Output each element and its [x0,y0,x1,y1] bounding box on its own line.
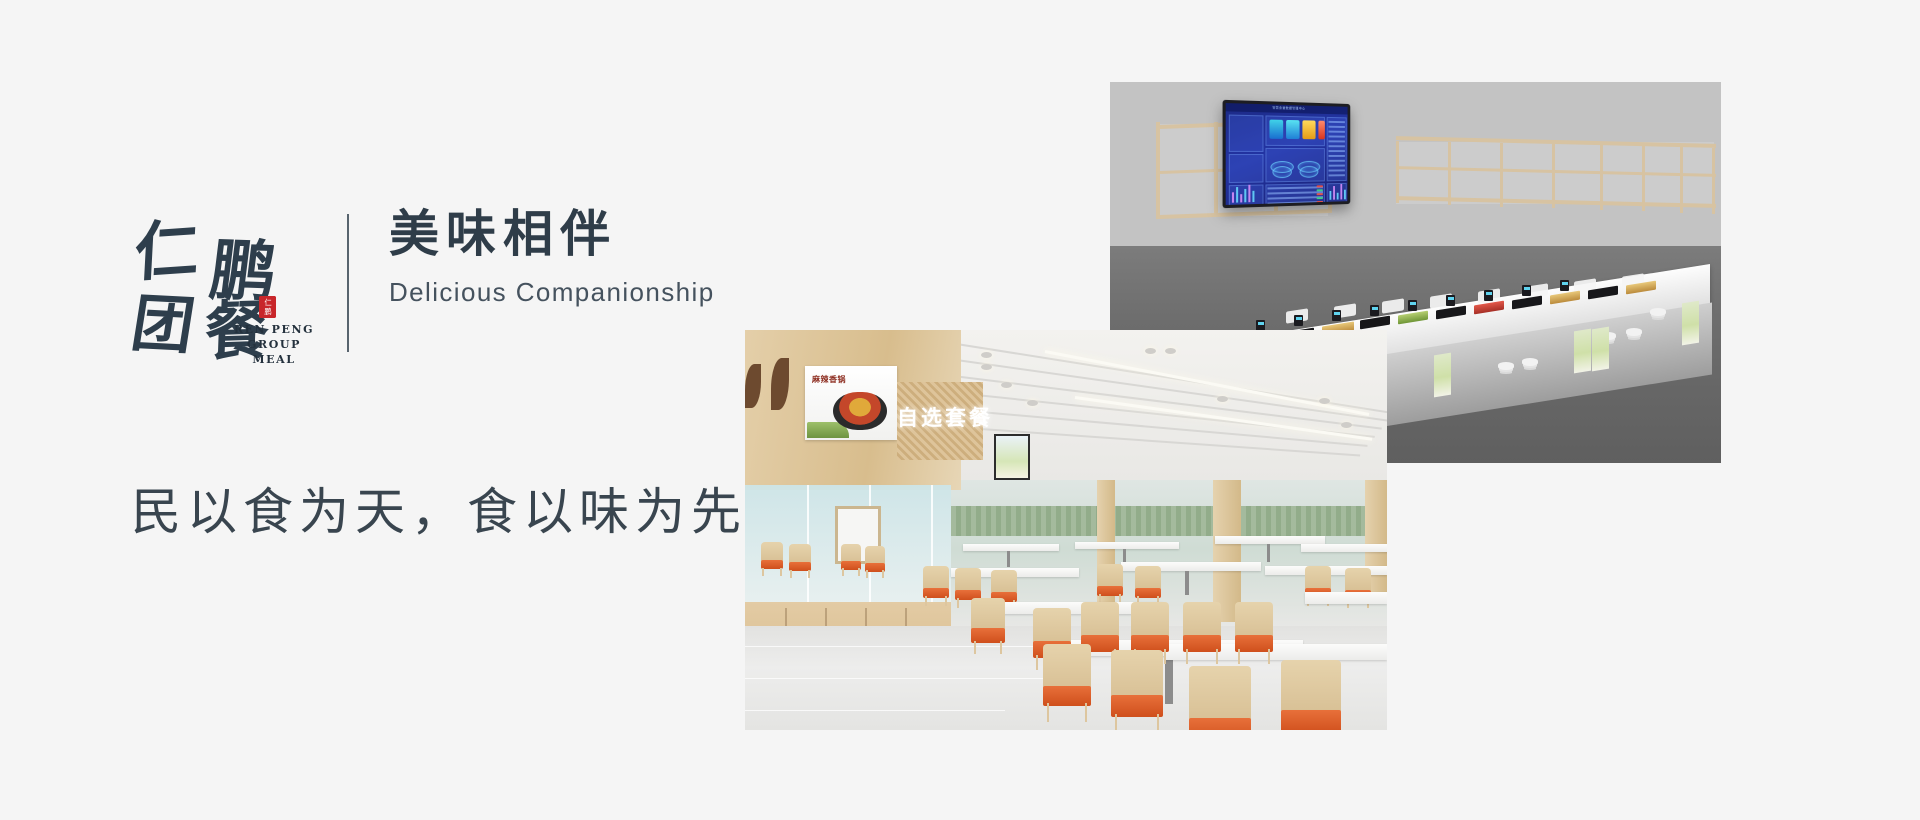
dashboard-legend-chip [1317,201,1323,203]
frame-post [1448,142,1451,205]
downlight [1145,348,1156,354]
tagline-block: 美味相伴 Delicious Companionship [389,204,715,308]
dashboard-list-row [1329,131,1345,133]
poster-title: 麻辣香锅 [812,374,846,385]
dashboard-bar [1240,194,1242,202]
downlight [1341,422,1352,428]
dashboard-kpi-dishes [1286,120,1299,139]
floor-seam [745,678,1045,679]
dashboard-bar [1329,191,1331,200]
structural-column [1213,480,1241,622]
dining-chair [1235,602,1273,664]
dashboard-list-row [1329,155,1345,157]
decor-panel [1592,327,1609,372]
dashboard-bar [1252,191,1254,202]
dining-chair [1111,650,1163,730]
dining-chair [865,546,885,578]
dashboard-list-row [1329,165,1345,167]
downlight [1001,382,1012,388]
brand-row: 仁 鹏 团 餐 仁 鹏 REN PENG GROUP MEAL 美味相伴 Del… [133,196,715,361]
dashboard-list-row [1329,150,1345,152]
red-seal-stamp-icon: 仁 鹏 [259,296,276,318]
ren-peng-group-meal-logo: 仁 鹏 团 餐 仁 鹏 REN PENG GROUP MEAL [133,196,313,361]
ceiling-strip [981,428,1360,457]
dashboard-bar [1244,189,1246,202]
cafeteria-interior-photo: 麻辣香锅 自选套餐 [745,330,1387,730]
sneeze-guard [1382,298,1404,313]
dining-table [1301,544,1387,552]
poster-dish-bowl [833,392,887,430]
logo-english-line-3: MEAL [229,352,319,367]
downlight [1165,348,1176,354]
dashboard-bar [1333,186,1335,200]
dining-chair [761,542,783,576]
table-leg [1267,544,1270,562]
green-hedge [951,506,1387,536]
seal-line-2: 鹏 [264,307,271,315]
dashboard-list-row [1329,126,1345,128]
bowl-stack [1650,308,1666,316]
frame-post [1156,122,1160,218]
price-tag-display[interactable] [1370,305,1379,316]
menu-poster: 麻辣香锅 [805,366,897,440]
dashboard-panel-nutrition [1229,154,1264,183]
frame-post [1500,143,1503,207]
menu-tv-screen[interactable] [994,434,1030,480]
dashboard-list-row [1329,135,1345,137]
table-leg [1185,571,1189,595]
bowl-stack [1522,358,1538,366]
frame-post [1712,148,1715,214]
dining-table [1075,542,1179,549]
price-tag-display[interactable] [1408,300,1417,311]
dining-chair [971,598,1005,654]
dashboard-list-row [1329,160,1345,162]
dashboard-screen: 智慧食堂数据管理中心 [1226,103,1348,205]
downlight [1217,396,1228,402]
vertical-divider [347,214,349,352]
frame-post [1552,144,1555,208]
logo-english-name: REN PENG GROUP MEAL [229,322,319,367]
price-tag-display[interactable] [1332,310,1341,321]
floor-seam [745,710,1005,711]
downlight [981,364,992,370]
dining-chair [1281,660,1341,730]
dashboard-list-row [1329,169,1345,171]
decor-panel [1682,301,1699,346]
dashboard-kpi-stock [1318,121,1324,140]
price-tag-display[interactable] [1560,280,1569,291]
page-title: 民以食为天，食以味为先 [131,472,747,544]
downlight [1027,400,1038,406]
hero-banner: 仁 鹏 团 餐 仁 鹏 REN PENG GROUP MEAL 美味相伴 Del… [0,0,1920,820]
dining-chair [1189,666,1251,730]
dashboard-list-row [1329,121,1345,123]
dashboard-legend-chip [1317,197,1323,199]
price-tag-display[interactable] [1484,290,1493,301]
dining-table [1305,592,1387,604]
price-tag-display[interactable] [1522,285,1531,296]
dining-chair [1043,644,1091,722]
downlight [1319,398,1330,404]
frame-post [1642,146,1645,211]
price-tag-display[interactable] [1446,295,1455,306]
dining-chair [841,544,861,576]
dashboard-bar [1337,193,1339,200]
dashboard-bar [1344,190,1346,200]
decor-panel [1434,353,1451,398]
dashboard-bar [1340,184,1342,200]
dashboard-kpi-nutrition [1302,120,1315,139]
frame-post [1600,145,1603,210]
dashboard-legend-chip [1317,185,1323,187]
downlight [981,352,992,358]
dining-chair [1097,564,1123,604]
dashboard-legend-chip [1317,189,1323,191]
dining-chair [1135,566,1161,606]
dashboard-list-row [1329,174,1345,176]
dining-chair [789,544,811,578]
dashboard-bar [1248,185,1250,202]
station-signage: 自选套餐 [897,402,987,432]
tagline-english: Delicious Companionship [389,277,715,308]
dashboard-monitor[interactable]: 智慧食堂数据管理中心 [1223,100,1351,208]
dashboard-legend-chip [1317,193,1323,195]
dining-chair [1183,602,1221,664]
logo-english-line-1: REN PENG [229,322,319,337]
dashboard-bar [1236,187,1238,203]
dining-table [1215,536,1325,544]
dashboard-list-row [1329,145,1345,147]
dashboard-panel-portrait [1229,115,1264,152]
tagline-chinese: 美味相伴 [389,204,715,264]
seal-line-1: 仁 [264,298,271,306]
frame-post [1214,122,1218,216]
dining-table [963,544,1059,551]
logo-english-line-2: GROUP [229,337,319,352]
frame-post [1680,147,1683,213]
decor-panel [1574,329,1591,374]
dashboard-bar [1232,192,1234,202]
table-leg [1007,551,1010,567]
dashboard-kpi-meals [1269,120,1283,139]
dashboard-list-row [1329,140,1345,142]
bowl-stack [1498,362,1514,370]
logo-char-tuan: 团 [126,272,200,365]
price-tag-display[interactable] [1294,315,1303,326]
bowl-stack [1626,328,1642,336]
dining-chair [923,566,949,606]
frame-post [1396,141,1399,203]
dashboard-order-row [1267,201,1323,204]
